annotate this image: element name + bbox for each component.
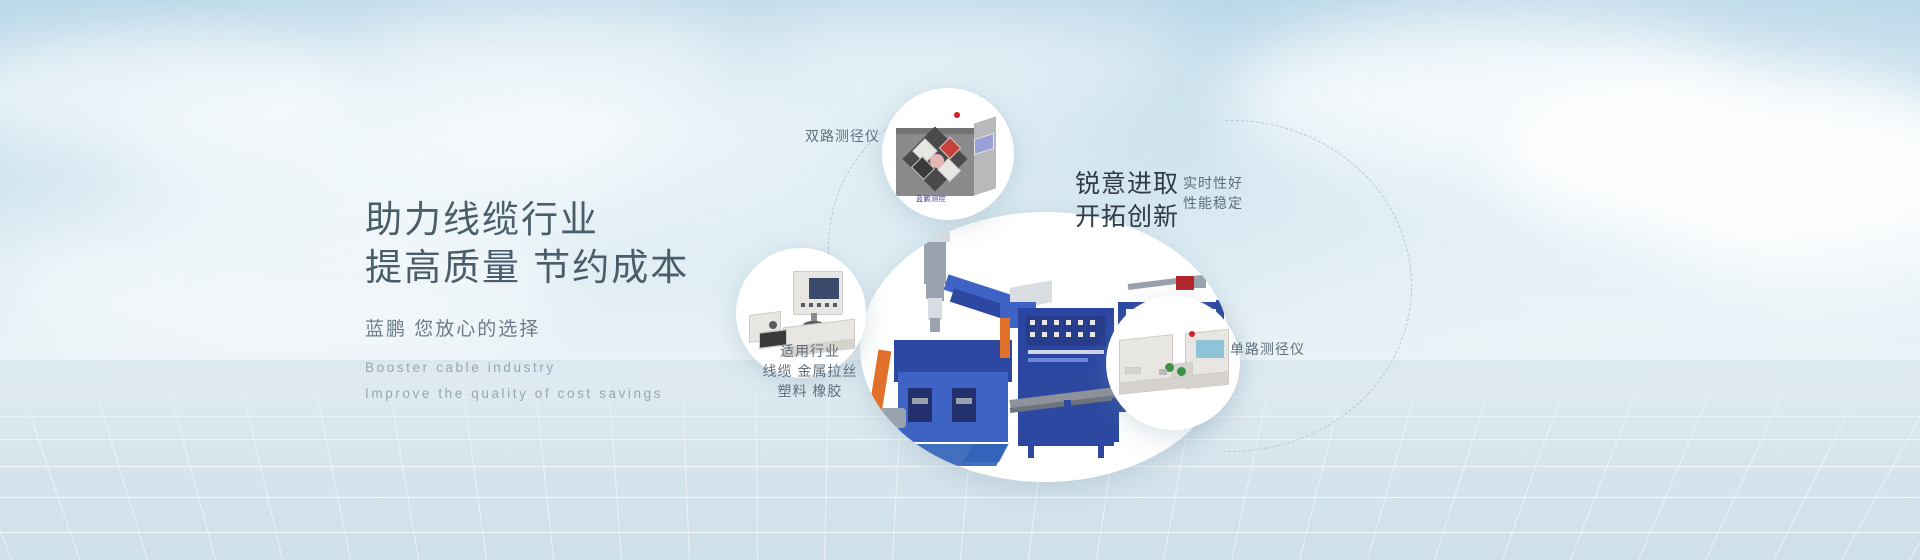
dual-gauge-art: 蓝鹏测控 bbox=[890, 102, 1006, 206]
label-industry-title: 适用行业 bbox=[730, 340, 890, 362]
device-brand-label: 蓝鹏测控 bbox=[916, 194, 946, 204]
product-composition: 蓝鹏测控 bbox=[720, 0, 1920, 560]
label-industry-line-3: 塑料 橡胶 bbox=[730, 380, 890, 402]
headline-block: 助力线缆行业 提高质量 节约成本 蓝鹏 您放心的选择 Booster cable… bbox=[365, 196, 689, 407]
label-feature-line-1: 实时性好 bbox=[1183, 172, 1243, 194]
label-feature-line-2: 性能稳定 bbox=[1183, 192, 1243, 214]
subheadline: 蓝鹏 您放心的选择 bbox=[365, 314, 689, 341]
slogan-line-1: 锐意进取 bbox=[1075, 168, 1179, 201]
english-tagline-1: Booster cable industry bbox=[365, 355, 689, 381]
label-dual-path-gauge: 双路测径仪 bbox=[760, 125, 880, 147]
bubble-single-path-gauge bbox=[1106, 296, 1240, 430]
label-single-path-gauge: 单路测径仪 bbox=[1230, 338, 1305, 360]
single-gauge-art bbox=[1115, 323, 1231, 403]
dual-path-gauge-image: 蓝鹏测控 bbox=[882, 88, 1014, 220]
cloud-decoration bbox=[360, 10, 720, 100]
slogan-line-2: 开拓创新 bbox=[1075, 201, 1179, 234]
hero-banner: 助力线缆行业 提高质量 节约成本 蓝鹏 您放心的选择 Booster cable… bbox=[0, 0, 1920, 560]
headline-line-2: 提高质量 节约成本 bbox=[365, 244, 689, 292]
label-industry-line-2: 线缆 金属拉丝 bbox=[730, 360, 890, 382]
bubble-dual-path-gauge: 蓝鹏测控 bbox=[882, 88, 1014, 220]
english-tagline-2: Improve the quality of cost savings bbox=[365, 381, 689, 407]
single-path-gauge-image bbox=[1106, 296, 1240, 430]
headline-line-1: 助力线缆行业 bbox=[365, 196, 689, 244]
